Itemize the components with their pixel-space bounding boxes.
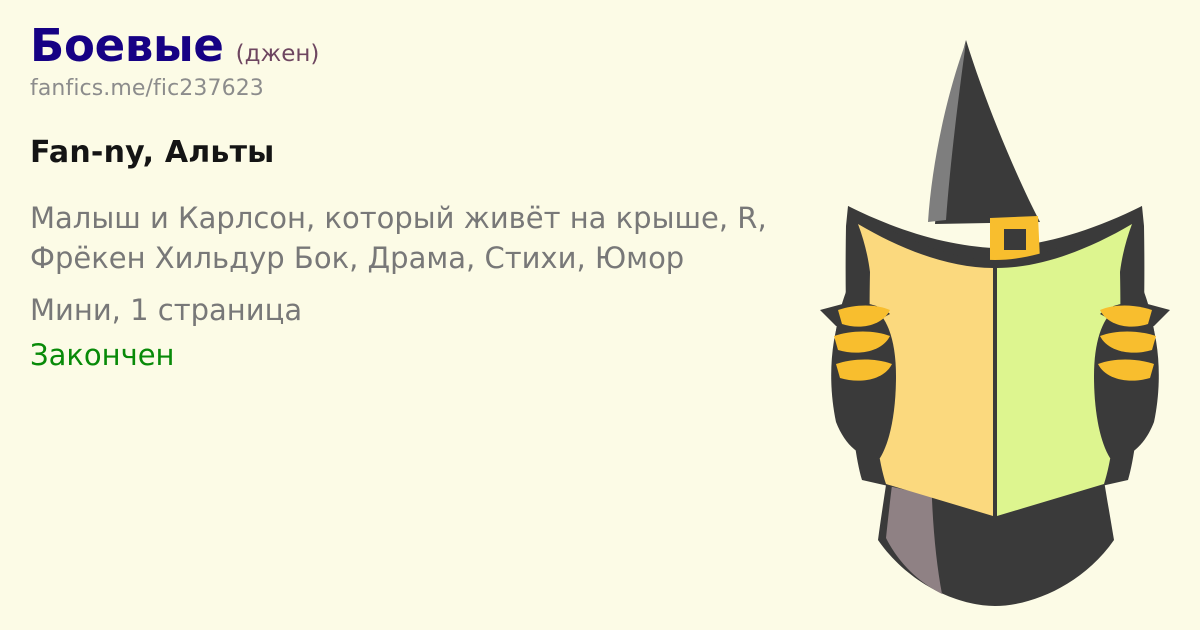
story-info-column: Боевые (джен) fanfics.me/fic237623 Fan-n… [30,22,840,376]
story-tags: Малыш и Карлсон, который живёт на крыше,… [30,199,830,278]
fanfic-preview-card: Боевые (джен) fanfics.me/fic237623 Fan-n… [0,0,1200,630]
status-badge: Закончен [30,336,840,376]
page-title: Боевые [30,22,224,69]
witch-reading-book-illustration [790,10,1200,620]
right-hand-icon [1094,302,1170,458]
story-authors: Fan-ny, Альты [30,135,840,170]
story-url: fanfics.me/fic237623 [30,76,840,101]
left-hand-icon [820,302,896,458]
story-size: Мини, 1 страница [30,291,840,331]
title-row: Боевые (джен) [30,22,840,69]
story-category-label: (джен) [236,43,320,66]
